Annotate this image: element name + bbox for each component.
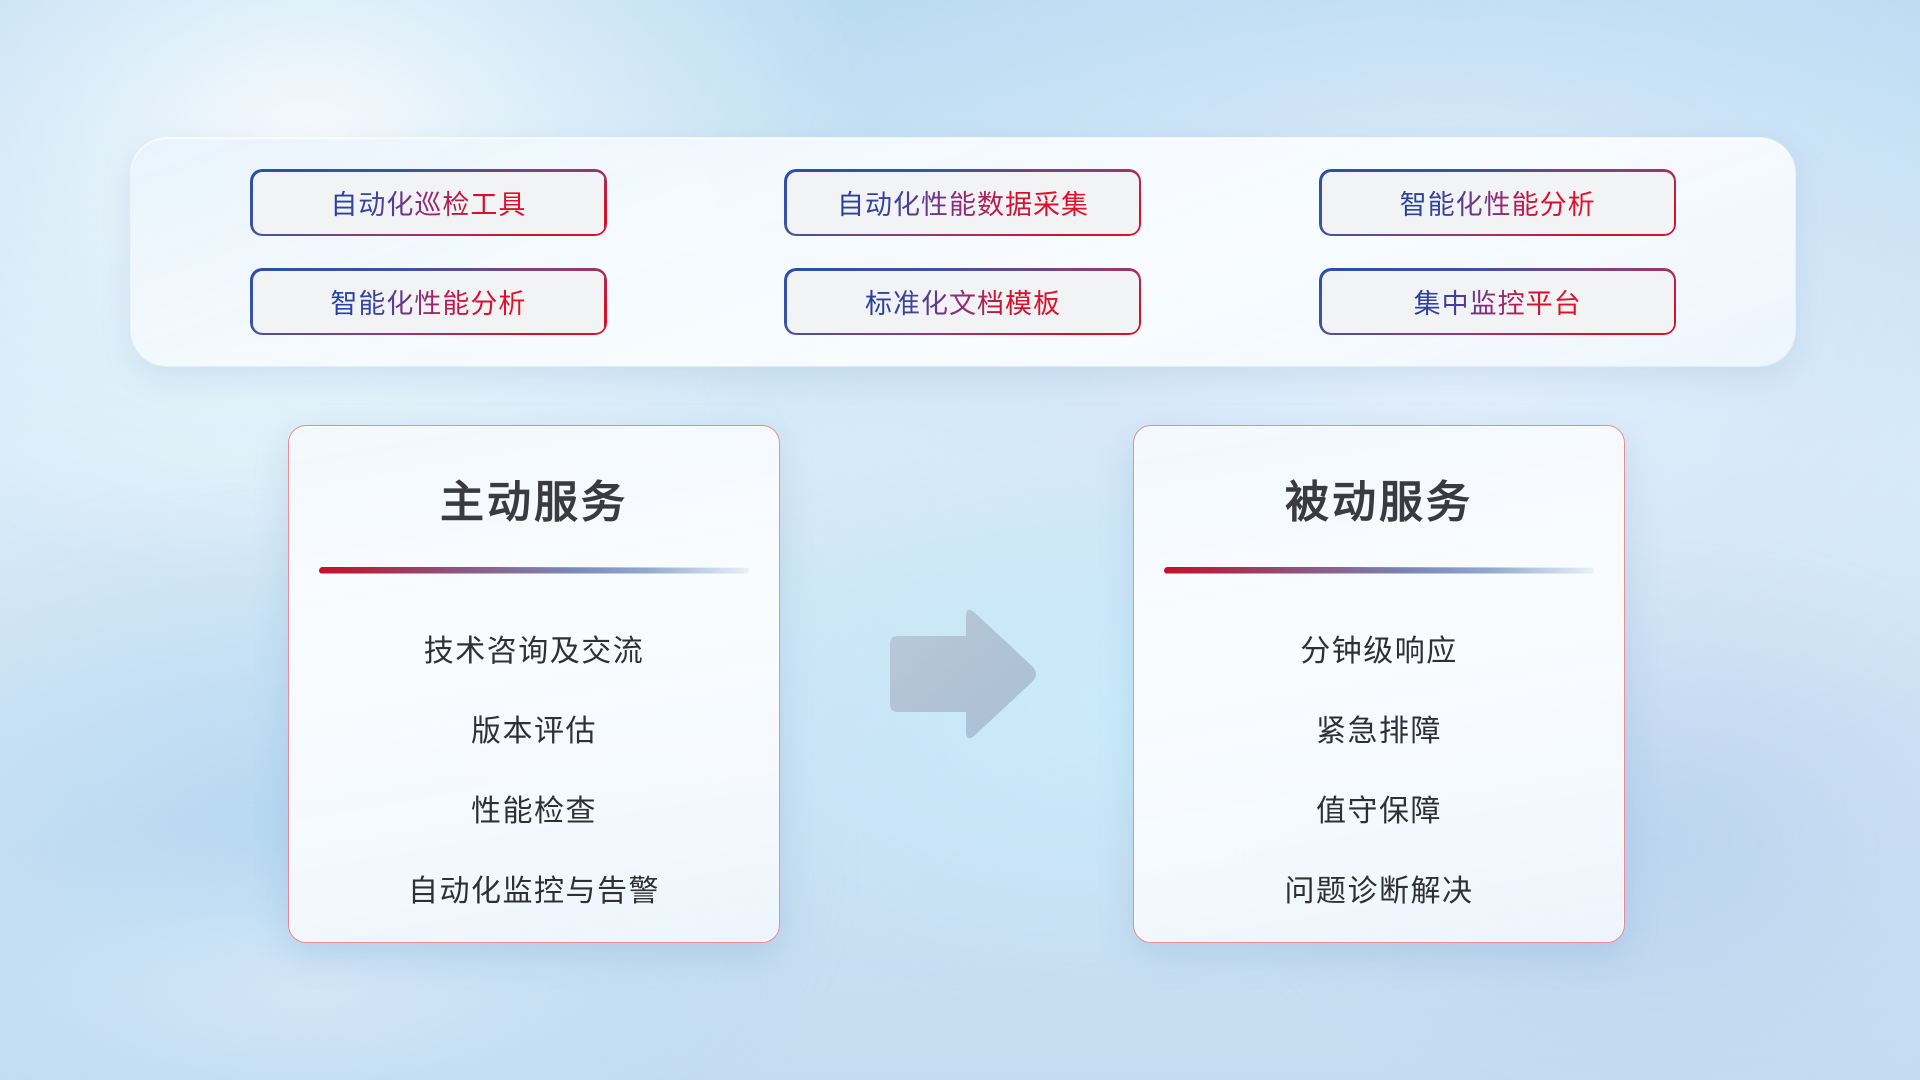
capability-pill-label: 自动化性能数据采集 <box>837 183 1089 222</box>
capability-pill-3[interactable]: 智能化性能分析 <box>1320 170 1676 236</box>
service-card-proactive: 主动服务 技术咨询及交流 版本评估 性能检查 自动化监控与告警 健康巡检 <box>288 425 780 943</box>
capability-panel: 自动化巡检工具 自动化性能数据采集 智能化性能分析 智能化性能分析 标准化文档模… <box>131 138 1795 366</box>
capability-pill-label: 智能化性能分析 <box>330 282 526 321</box>
list-item: 性能检查 <box>289 768 779 848</box>
capability-pill-label: 智能化性能分析 <box>1400 183 1596 222</box>
list-item: SLA式服务 <box>1134 928 1624 943</box>
card-title-proactive: 主动服务 <box>289 466 779 530</box>
capability-pill-4[interactable]: 智能化性能分析 <box>250 269 606 335</box>
flow-connector <box>878 604 1040 744</box>
card-title-reactive: 被动服务 <box>1134 466 1624 530</box>
capability-pill-label: 集中监控平台 <box>1414 282 1582 321</box>
capability-pill-5[interactable]: 标准化文档模板 <box>785 269 1141 335</box>
service-list-proactive: 技术咨询及交流 版本评估 性能检查 自动化监控与告警 健康巡检 <box>289 608 779 943</box>
list-item: 健康巡检 <box>289 928 779 943</box>
list-item: 紧急排障 <box>1134 688 1624 768</box>
capability-pill-label: 标准化文档模板 <box>865 282 1061 321</box>
capability-pill-grid: 自动化巡检工具 自动化性能数据采集 智能化性能分析 智能化性能分析 标准化文档模… <box>131 138 1795 366</box>
list-item: 自动化监控与告警 <box>289 848 779 928</box>
service-list-reactive: 分钟级响应 紧急排障 值守保障 问题诊断解决 SLA式服务 <box>1134 608 1624 943</box>
list-item: 问题诊断解决 <box>1134 848 1624 928</box>
list-item: 技术咨询及交流 <box>289 608 779 688</box>
card-divider-proactive <box>319 567 749 574</box>
list-item: 版本评估 <box>289 688 779 768</box>
capability-pill-1[interactable]: 自动化巡检工具 <box>250 170 606 236</box>
capability-pill-2[interactable]: 自动化性能数据采集 <box>785 170 1141 236</box>
card-divider-reactive <box>1164 567 1594 574</box>
capability-pill-label: 自动化巡检工具 <box>330 183 526 222</box>
right-arrow-icon <box>878 604 1040 744</box>
service-card-reactive: 被动服务 分钟级响应 紧急排障 值守保障 问题诊断解决 SLA式服务 <box>1133 425 1625 943</box>
list-item: 值守保障 <box>1134 768 1624 848</box>
diagram-canvas: 自动化巡检工具 自动化性能数据采集 智能化性能分析 智能化性能分析 标准化文档模… <box>0 0 1920 1080</box>
capability-pill-6[interactable]: 集中监控平台 <box>1320 269 1676 335</box>
list-item: 分钟级响应 <box>1134 608 1624 688</box>
